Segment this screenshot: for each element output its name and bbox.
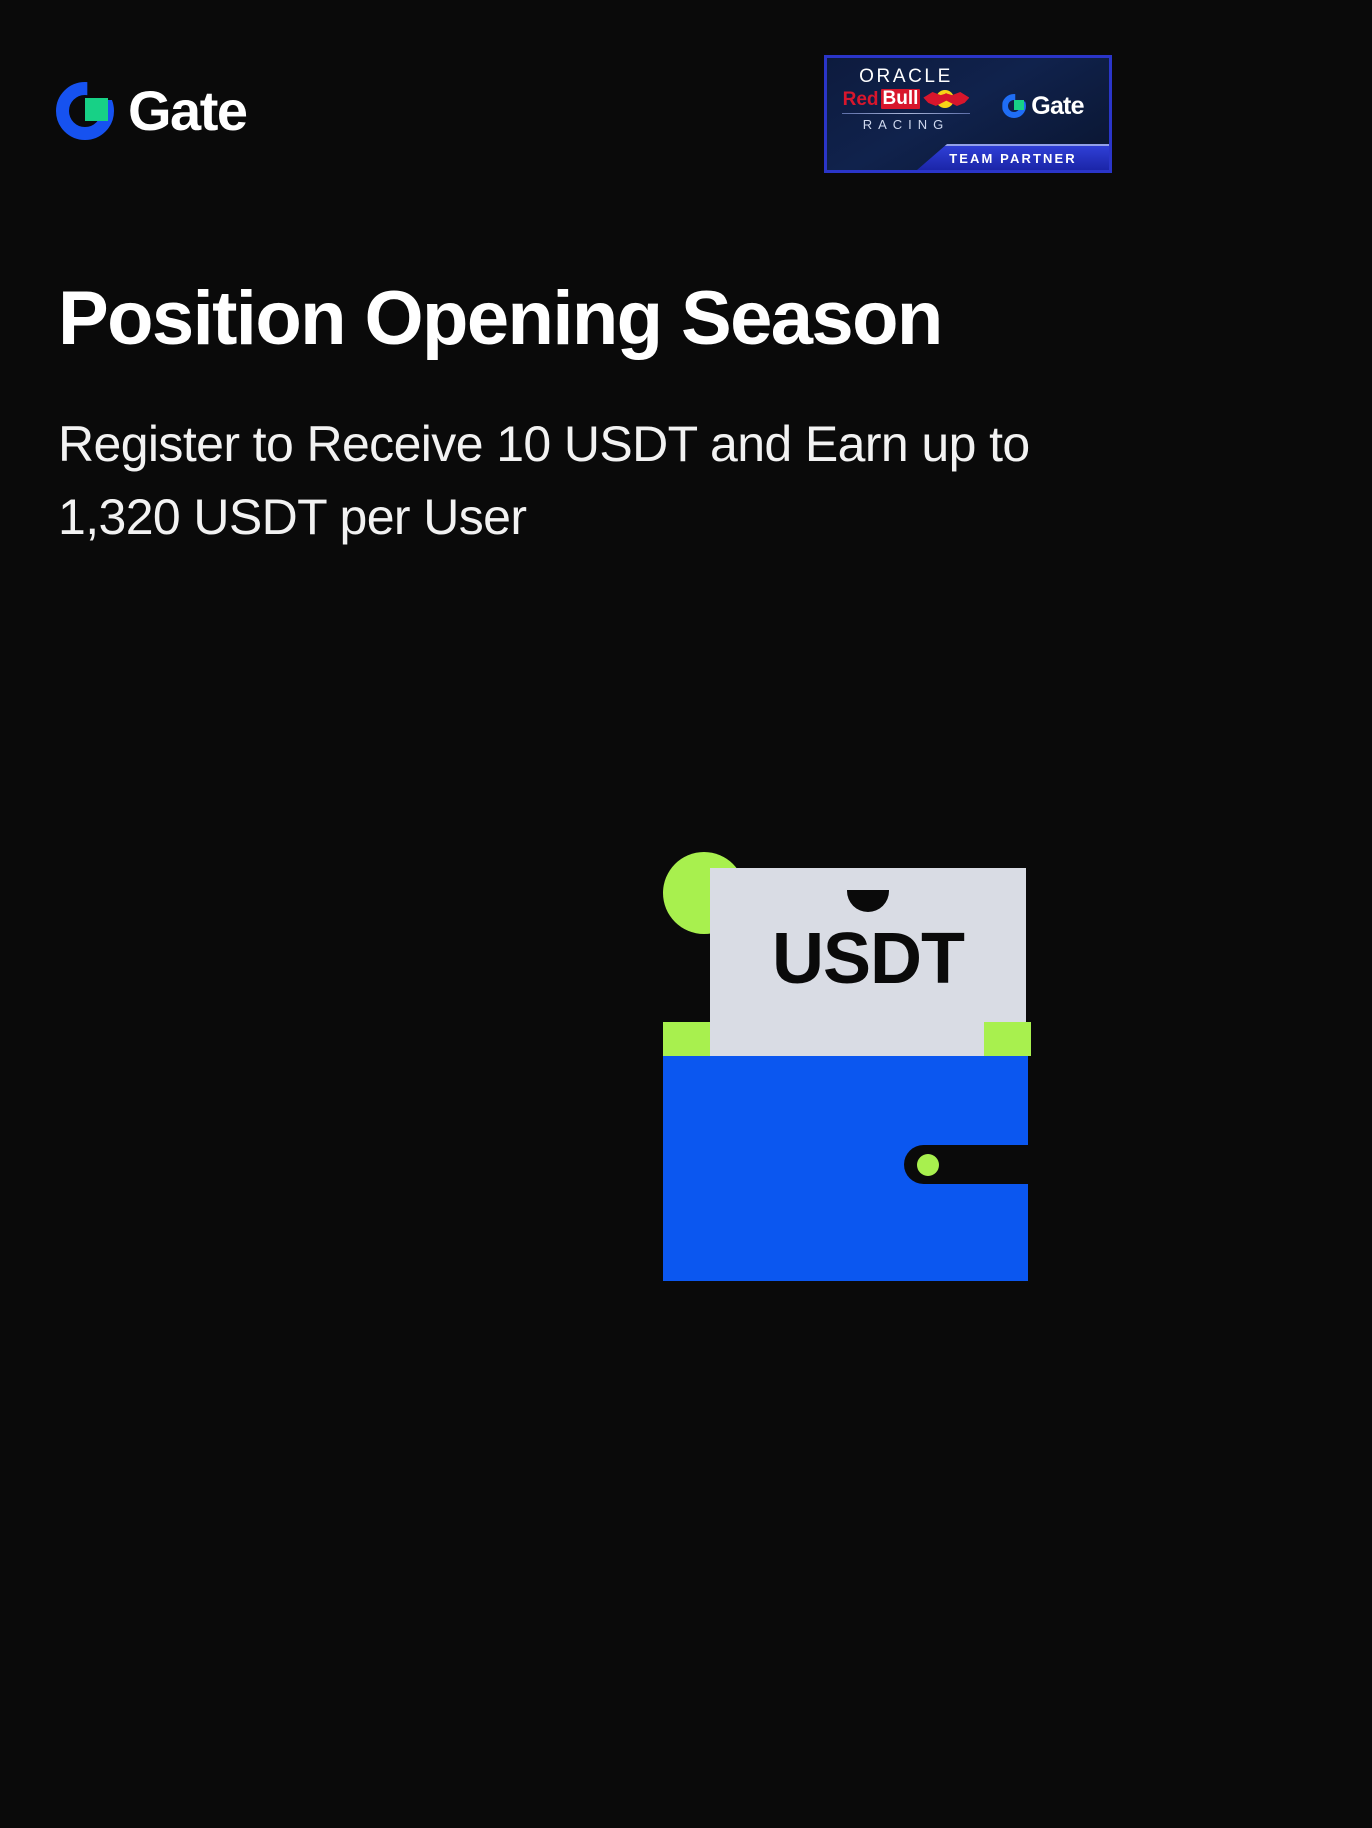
red-bull-lockup: Red Bull — [843, 88, 970, 110]
red-bull-bulls-icon — [923, 89, 969, 109]
gate-wordmark: Gate — [128, 83, 247, 139]
page-title: Position Opening Season — [58, 278, 1108, 360]
clasp-green-dot — [917, 1154, 939, 1176]
racing-label: RACING — [863, 118, 950, 131]
gate-green-square — [85, 98, 108, 121]
green-bar-left — [663, 1022, 710, 1056]
badge-divider — [842, 113, 970, 114]
gate-logo[interactable]: Gate — [56, 82, 247, 140]
bull-word: Bull — [881, 89, 921, 109]
oracle-red-bull-racing-team-partner-badge: ORACLE Red Bull RACING — [824, 55, 1112, 173]
green-bar-right — [984, 1022, 1031, 1056]
card-notch — [847, 890, 889, 912]
oracle-label: ORACLE — [859, 67, 953, 86]
gate-logo-small: Gate — [1002, 94, 1083, 119]
page-subtitle: Register to Receive 10 USDT and Earn up … — [58, 408, 1133, 553]
gate-green-square-small — [1014, 100, 1024, 110]
team-partner-band: TEAM PARTNER — [917, 144, 1109, 170]
usdt-card-label: USDT — [710, 923, 1026, 995]
promo-banner: Gate ORACLE Red Bull RACING — [0, 0, 1372, 1828]
usdt-card: USDT — [710, 868, 1026, 1083]
team-partner-label: TEAM PARTNER — [949, 151, 1077, 166]
red-bull-wordmark: Red Bull — [843, 89, 921, 109]
gate-ring-icon — [56, 82, 114, 140]
gate-wordmark-small: Gate — [1031, 94, 1083, 119]
usdt-wallet-illustration: USDT — [663, 845, 1031, 1285]
gate-ring-icon-small — [1002, 94, 1026, 118]
red-word: Red — [843, 90, 879, 109]
